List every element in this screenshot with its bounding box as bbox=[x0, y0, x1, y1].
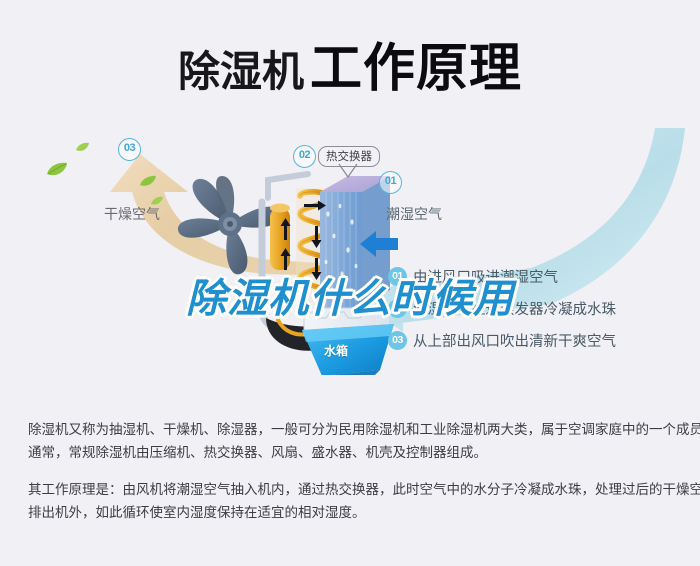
dehumidifier-unit-illustration bbox=[248, 140, 398, 375]
badge-03: 03 bbox=[118, 138, 141, 161]
leaf-icon bbox=[46, 162, 68, 178]
body-paragraph-1-line-1: 除湿机又称为抽湿机、干燥机、除湿器，一般可分为民用除湿机和工业除湿机两大类，属于… bbox=[28, 418, 676, 441]
page-root: 除湿机工作原理 bbox=[0, 0, 700, 566]
legend-badge-03: 03 bbox=[388, 331, 407, 350]
overlay-headline: 除湿机什么时候用 bbox=[0, 266, 700, 324]
water-tank-label: 水箱 bbox=[324, 342, 348, 359]
list-item: 03 从上部出风口吹出清新干爽空气 bbox=[388, 326, 688, 354]
body-paragraph-2: 其工作原理是：由风机将潮湿空气抽入机内，通过热交换器，此时空气中的水分子冷凝成水… bbox=[28, 478, 676, 524]
body-paragraph-2-line-2: 排出机外，如此循环使室内湿度保持在适宜的相对湿度。 bbox=[28, 501, 676, 524]
page-title-part2: 工作原理 bbox=[310, 40, 522, 98]
badge-01: 01 bbox=[379, 171, 402, 194]
callout-pointer-icon bbox=[337, 163, 359, 179]
legend-text-03: 从上部出风口吹出清新干爽空气 bbox=[413, 330, 616, 351]
body-paragraph-1-line-2: 通常，常规除湿机由压缩机、热交换器、风扇、盛水器、机壳及控制器组成。 bbox=[28, 441, 676, 464]
badge-02: 02 bbox=[293, 145, 316, 168]
dry-air-label: 干燥空气 bbox=[104, 204, 160, 224]
leaf-icon bbox=[139, 175, 157, 188]
page-title: 除湿机工作原理 bbox=[0, 26, 700, 101]
body-paragraph-2-line-1: 其工作原理是：由风机将潮湿空气抽入机内，通过热交换器，此时空气中的水分子冷凝成水… bbox=[28, 478, 676, 501]
humid-air-label: 潮湿空气 bbox=[386, 204, 442, 224]
page-title-part1: 除湿机 bbox=[178, 48, 304, 95]
leaf-icon bbox=[75, 142, 90, 153]
body-paragraph-1: 除湿机又称为抽湿机、干燥机、除湿器，一般可分为民用除湿机和工业除湿机两大类，属于… bbox=[28, 418, 676, 464]
